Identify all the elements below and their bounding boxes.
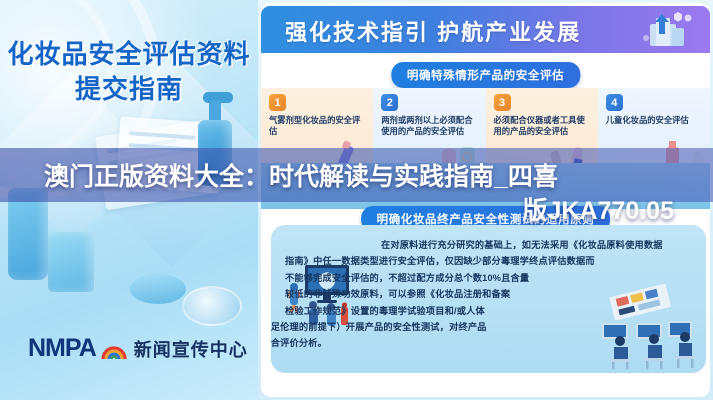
card-label: 儿童化妆品的安全评估	[606, 115, 702, 126]
banner-title: 强化技术指引 护航产业发展	[285, 15, 581, 47]
poster-title-line2: 提交指南	[0, 73, 258, 105]
box-arrow-up-icon	[626, 8, 700, 53]
card-badge: 2	[381, 94, 398, 111]
body-textbox: 在对原料进行充分研究的基础上，如无法采用《化妆品原料使用数据 指南》中任一数据类…	[271, 225, 706, 373]
body-line: 在对原料进行充分研究的基础上，如无法采用《化妆品原料使用数据	[285, 237, 693, 253]
overlay-title: 澳门正版资料大全：时代解读与实践指南_四喜 版JKA770.05	[44, 160, 684, 228]
poster-title: 化妆品安全评估资料 提交指南	[0, 38, 258, 105]
section1-pill: 明确特殊情形产品的安全评估	[391, 62, 580, 88]
nmpa-wordmark: NMPA	[28, 334, 96, 363]
screenshot-root: 化妆品安全评估资料 提交指南 NMPA 新闻宣传中心 强化技术指引 护航产业发展	[0, 0, 713, 400]
body-line: 指南》中任一数据类型进行安全评估，仅因缺少部分毒理学终点评估数据而	[285, 253, 693, 269]
cosmetic-jar-icon	[130, 274, 186, 304]
nmpa-logo: NMPA 新闻宣传中心	[28, 334, 248, 363]
card-badge: 1	[269, 94, 286, 111]
nmpa-chinese-label: 新闻宣传中心	[134, 336, 248, 362]
overlay-title-line2: 版JKA770.05	[44, 194, 684, 228]
infographic-banner: 强化技术指引 护航产业发展	[261, 6, 710, 53]
office-workers-illustration	[590, 283, 702, 369]
magnifier-icon	[182, 286, 242, 326]
overlay-title-line1: 澳门正版资料大全：时代解读与实践指南_四喜	[44, 163, 558, 191]
cream-box-icon	[48, 232, 94, 292]
card-badge: 3	[494, 94, 511, 111]
card-badge: 4	[606, 94, 623, 111]
rainbow-arc-icon	[101, 338, 127, 360]
card-label: 气雾剂型化妆品的安全评估	[269, 115, 365, 137]
card-label: 两剂或两剂以上必须配合使用的产品的安全评估	[381, 115, 477, 137]
poster-title-line1: 化妆品安全评估资料	[0, 38, 258, 70]
card-label: 必须配合仪器或者工具使用的产品的安全评估	[494, 115, 590, 137]
